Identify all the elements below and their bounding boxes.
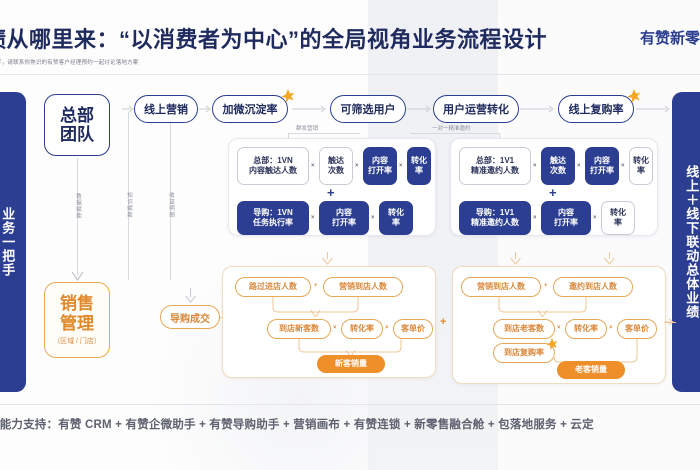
- store-result-label: 老客销量: [575, 365, 607, 375]
- operator-multiply: ×: [533, 215, 537, 221]
- operator-multiply: ×: [557, 325, 561, 331]
- flow-arrow-3: [407, 105, 431, 113]
- metric-line2: 率: [633, 166, 649, 176]
- store-metric-label: 邀约到店人数: [569, 282, 617, 292]
- metric-line2: 率: [411, 166, 427, 176]
- metric-line2: 次数: [328, 166, 344, 176]
- store-metric-marketing-entry[interactable]: 营销到店人数: [461, 277, 541, 297]
- metric-conversion-rate[interactable]: 转化 率: [379, 201, 413, 235]
- operator-multiply: ×: [593, 215, 597, 221]
- store-result-label: 新客销量: [335, 359, 367, 369]
- metric-conversion-rate[interactable]: 转化 率: [407, 147, 431, 185]
- metric-line2: 次数: [550, 166, 566, 176]
- metric-line1: 转化: [411, 156, 427, 166]
- group-label-mass-marketing: 群发营销: [296, 124, 318, 132]
- store-metric-label: 到店老客数: [504, 324, 544, 334]
- store-metric-conversion-rate[interactable]: 转化率: [341, 319, 383, 339]
- store-metric-label: 客单价: [625, 324, 649, 334]
- store-metric-unit-price[interactable]: 客单价: [393, 319, 433, 339]
- flow-step-online-marketing[interactable]: 线上营销: [134, 95, 198, 123]
- store-metric-label: 转化率: [350, 324, 374, 334]
- operator-plus: +: [327, 185, 335, 200]
- metric-line2: 打开率: [368, 166, 392, 176]
- right-group-to-store-arrow-a: [510, 252, 521, 264]
- link-label-knowledge: 知识赋能: [125, 192, 133, 218]
- footer-grey-band: [368, 404, 498, 470]
- flow-arrow-exit: [636, 105, 670, 113]
- operator-plus: +: [314, 283, 318, 289]
- metric-line2: 精准邀约人数: [471, 166, 519, 176]
- hq-label-line2: 团队: [60, 125, 94, 144]
- flow-step-label: 线上复购率: [569, 101, 624, 117]
- store-metric-conversion-rate[interactable]: 转化率: [565, 319, 607, 339]
- metric-line1: 导购：1V1: [471, 208, 519, 218]
- metric-guide-1v1-invite-count[interactable]: 导购：1V1 精准邀约人数: [459, 201, 531, 235]
- flow-step-label: 线上营销: [144, 101, 188, 117]
- metric-line1: 转化: [633, 156, 649, 166]
- flow-step-wechat-add-rate[interactable]: 加微沉淀率: [212, 95, 288, 123]
- store-metric-passerby-entry[interactable]: 路过进店人数: [235, 277, 311, 297]
- hq-to-sales-arrow: [72, 272, 83, 281]
- metric-line1: 内容: [554, 208, 578, 218]
- metric-hq-1v1-invite-count[interactable]: 总部：1V1 精准邀约人数: [459, 147, 531, 185]
- store-metric-marketing-entry[interactable]: 营销到店人数: [323, 277, 403, 297]
- flow-step-label: 可筛选用户: [341, 101, 396, 117]
- operator-multiply: ×: [609, 325, 613, 331]
- store-brace-top: [267, 297, 371, 317]
- metric-conversion-rate[interactable]: 转化 率: [601, 201, 635, 235]
- metric-line2: 精准邀约人数: [471, 218, 519, 228]
- metric-line2: 率: [610, 218, 626, 228]
- operator-multiply: ×: [311, 163, 315, 169]
- metric-line1: 触达: [550, 156, 566, 166]
- flow-step-label: 用户运营转化: [443, 101, 509, 117]
- group-label-one-to-one-invite: 一对一精准邀约: [432, 124, 471, 132]
- metric-group-mass-marketing: 总部：1VN 内容触达人数 × 触达 次数 × 内容 打开率 × 转化 率 +: [228, 138, 436, 236]
- flow-arrow-entry: [122, 105, 134, 113]
- brand-label: 有赞新零: [640, 27, 700, 48]
- link-label-revenue: 收益明细: [167, 192, 175, 218]
- store-metric-unit-price[interactable]: 客单价: [617, 319, 657, 339]
- metric-line2: 打开率: [554, 218, 578, 228]
- left-rail-label: 业务一把手: [0, 207, 14, 277]
- store-panel-returning-customers: 营销到店人数 + 邀约到店人数 到店老客数 × 转化率 × 客单价 到店复购率: [452, 266, 666, 384]
- link-label-data-empowerment: 数据赋能: [74, 193, 82, 219]
- operator-multiply: ×: [385, 325, 389, 331]
- org-box-headquarters[interactable]: 总部 团队: [44, 94, 110, 156]
- metric-touch-times[interactable]: 触达 次数: [541, 147, 575, 185]
- left-group-brace: [288, 133, 360, 134]
- metric-line1: 总部：1VN: [249, 156, 297, 166]
- flow-arrow-2: [292, 105, 326, 113]
- right-group-to-store-arrow-b: [604, 252, 615, 264]
- left-group-to-store-arrow: [322, 252, 333, 264]
- operator-multiply: ×: [371, 215, 375, 221]
- store-brace-top: [493, 297, 599, 317]
- header-divider: [0, 74, 700, 75]
- metric-line1: 触达: [328, 156, 344, 166]
- metric-line2: 打开率: [590, 166, 614, 176]
- store-to-rail-arrow: [664, 318, 674, 326]
- metric-line1: 内容: [332, 208, 356, 218]
- right-rail: 线上＋线下联动总体业绩: [672, 92, 700, 392]
- sales-label-line1: 销售: [60, 294, 94, 313]
- sales-sublabel: （区域 / 门店）: [53, 336, 101, 346]
- operator-multiply: ×: [399, 163, 403, 169]
- store-metric-label: 营销到店人数: [339, 282, 387, 292]
- metric-content-open-rate[interactable]: 内容 打开率: [363, 147, 397, 185]
- metric-line2: 率: [388, 218, 404, 228]
- hq-label-line1: 总部: [60, 106, 94, 125]
- operator-multiply: ×: [621, 163, 625, 169]
- flow-arrow-1: [199, 105, 211, 113]
- star-icon: [626, 88, 642, 104]
- metric-line2: 打开率: [332, 218, 356, 228]
- store-metric-label: 到店复购率: [504, 348, 544, 358]
- metric-touch-times[interactable]: 触达 次数: [319, 147, 353, 185]
- metric-line1: 内容: [590, 156, 614, 166]
- metric-content-open-rate[interactable]: 内容 打开率: [319, 201, 369, 235]
- operator-multiply: ×: [533, 163, 537, 169]
- flow-step-label: 加微沉淀率: [223, 101, 278, 117]
- deal-pill-label: 导购成交: [170, 310, 210, 325]
- footer-divider: [0, 404, 700, 405]
- operator-multiply: ×: [311, 215, 315, 221]
- store-metric-label: 客单价: [401, 324, 425, 334]
- flow-step-filterable-users[interactable]: 可筛选用户: [330, 95, 406, 123]
- page-subtitle: 字，请联系你熟识的有赞客户经理预约一起讨论落地方案: [0, 58, 139, 66]
- left-rail: 业务一把手: [0, 92, 26, 392]
- operator-multiply: ×: [333, 325, 337, 331]
- metric-hq-1vn-reach-count[interactable]: 总部：1VN 内容触达人数: [237, 147, 309, 185]
- store-metric-label: 营销到店人数: [477, 282, 525, 292]
- flow-arrow-4: [520, 105, 554, 113]
- metric-content-open-rate[interactable]: 内容 打开率: [541, 201, 591, 235]
- metric-line1: 转化: [388, 208, 404, 218]
- metric-line2: 任务执行率: [253, 218, 293, 228]
- store-metric-returning-customer-count[interactable]: 到店老客数: [493, 319, 555, 339]
- star-icon: [280, 88, 296, 104]
- metric-line1: 总部：1V1: [471, 156, 519, 166]
- operator-plus: +: [544, 283, 548, 289]
- metric-line1: 内容: [368, 156, 392, 166]
- org-box-sales-management[interactable]: 销售 管理 （区域 / 门店）: [44, 282, 110, 358]
- operator-plus-between-stores: +: [440, 316, 446, 328]
- store-panel-new-customers: 路过进店人数 + 营销到店人数 到店新客数 × 转化率 × 客单价 新客销量: [222, 266, 436, 378]
- right-group-brace: [410, 133, 500, 134]
- page-title: 绩从哪里来：“以消费者为中心”的全局视角业务流程设计: [0, 22, 547, 54]
- metric-group-precise-invite: 总部：1V1 精准邀约人数 × 触达 次数 × 内容 打开率 × 转化 率 +: [450, 138, 658, 236]
- footer-capability-note: 赞能力支持：有赞 CRM + 有赞企微助手 + 有赞导购助手 + 营销画布 + …: [0, 416, 594, 432]
- metric-conversion-rate[interactable]: 转化 率: [629, 147, 653, 185]
- store-metric-label: 转化率: [574, 324, 598, 334]
- slide-header: 绩从哪里来：“以消费者为中心”的全局视角业务流程设计 有赞新零 字，请联系你熟识…: [0, 0, 700, 76]
- store-result-returning-customer-sales[interactable]: 老客销量: [557, 361, 625, 379]
- slide-canvas: 绩从哪里来：“以消费者为中心”的全局视角业务流程设计 有赞新零 字，请联系你熟识…: [0, 0, 700, 470]
- operator-multiply: ×: [355, 163, 359, 169]
- flow-step-user-operation-conversion[interactable]: 用户运营转化: [433, 95, 519, 123]
- operator-plus: +: [549, 185, 557, 200]
- sales-to-deal-arrow: [185, 288, 196, 302]
- store-metric-invited-entry[interactable]: 邀约到店人数: [553, 277, 633, 297]
- sales-label-line2: 管理: [60, 314, 94, 333]
- store-metric-new-customer-count[interactable]: 到店新客数: [267, 319, 331, 339]
- metric-content-open-rate[interactable]: 内容 打开率: [585, 147, 619, 185]
- store-result-new-customer-sales[interactable]: 新客销量: [317, 355, 385, 373]
- operator-multiply: ×: [577, 163, 581, 169]
- right-rail-label: 线上＋线下联动总体业绩: [684, 165, 699, 319]
- metric-guide-1vn-task-rate[interactable]: 导购：1VN 任务执行率: [237, 201, 309, 235]
- store-metric-label: 路过进店人数: [249, 282, 297, 292]
- metric-line1: 转化: [610, 208, 626, 218]
- store-metric-label: 到店新客数: [279, 324, 319, 334]
- deal-pill-guide-transaction[interactable]: 导购成交: [160, 305, 220, 329]
- flow-step-online-repurchase-rate[interactable]: 线上复购率: [558, 95, 634, 123]
- metric-line2: 内容触达人数: [249, 166, 297, 176]
- metric-line1: 导购：1VN: [253, 208, 293, 218]
